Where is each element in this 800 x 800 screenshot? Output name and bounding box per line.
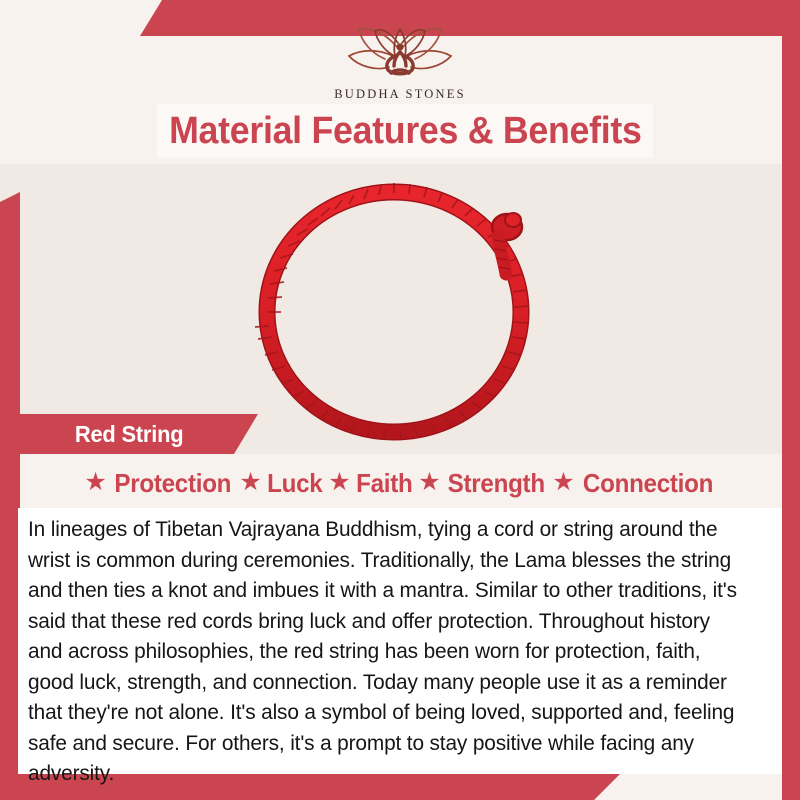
benefit-label: Strength (447, 468, 544, 499)
description-text: In lineages of Tibetan Vajrayana Buddhis… (28, 514, 744, 789)
benefit-label: Faith (356, 468, 412, 499)
decorative-left-red-strip-lower (0, 455, 20, 775)
benefits-list: ★ Protection ★ Luck ★ Faith ★ Strength ★… (20, 462, 782, 504)
description-block: In lineages of Tibetan Vajrayana Buddhis… (18, 508, 782, 774)
benefit-label: Luck (267, 468, 322, 499)
star-icon: ★ (552, 470, 574, 495)
benefit-item-strength: ★ Strength (418, 468, 548, 499)
brand-name: BUDDHA STONES (334, 87, 466, 102)
infographic-page: BUDDHA STONES Material Features & Benefi… (0, 0, 800, 800)
decorative-right-red-strip (782, 36, 800, 800)
star-icon: ★ (328, 470, 350, 495)
benefit-item-protection: ★ Protection (84, 468, 235, 499)
material-name: Red String (75, 421, 184, 448)
benefit-item-faith: ★ Faith (328, 468, 414, 499)
benefit-item-luck: ★ Luck (239, 468, 324, 499)
benefit-label: Connection (583, 468, 713, 499)
benefit-item-connection: ★ Connection (552, 468, 717, 499)
star-icon: ★ (418, 470, 440, 495)
material-name-banner: Red String (0, 414, 258, 454)
product-image-red-string-bracelet (236, 176, 566, 442)
star-icon: ★ (84, 470, 106, 495)
brand-logo: BUDDHA STONES (0, 14, 800, 102)
page-title-band: Material Features & Benefits (157, 104, 653, 158)
page-title: Material Features & Benefits (169, 110, 641, 153)
lotus-meditation-icon (335, 23, 465, 85)
star-icon: ★ (239, 470, 261, 495)
benefit-label: Protection (114, 468, 231, 499)
